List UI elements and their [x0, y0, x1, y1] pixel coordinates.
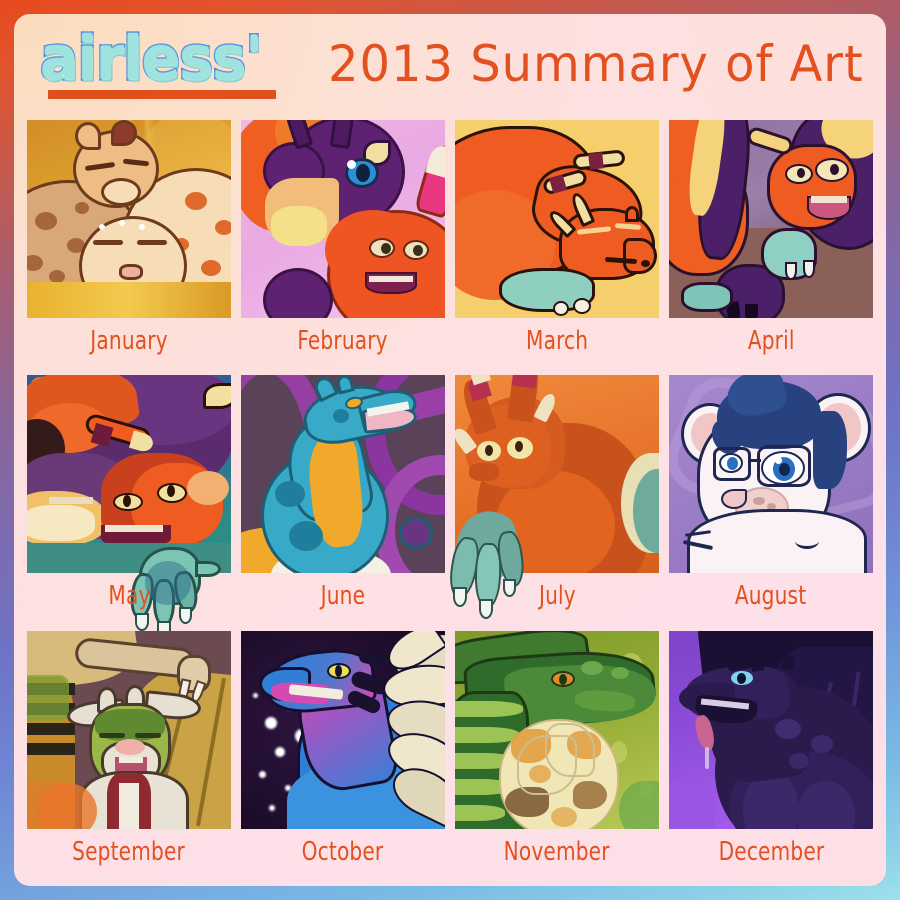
month-cell-january[interactable]: January [22, 116, 236, 371]
month-grid: January [14, 114, 886, 886]
month-cell-july[interactable]: July [450, 371, 664, 626]
artwork-april[interactable] [669, 120, 873, 318]
month-label: April [748, 327, 795, 355]
artwork-october[interactable] [241, 631, 445, 829]
month-label: January [90, 327, 167, 355]
artwork-march[interactable] [455, 120, 659, 318]
artwork-september[interactable] [27, 631, 231, 829]
month-label: July [539, 582, 576, 610]
artwork-february[interactable] [241, 120, 445, 318]
month-label: May [108, 582, 150, 610]
month-cell-may[interactable]: May [22, 371, 236, 626]
month-label: November [504, 838, 610, 866]
artwork-august[interactable] [669, 375, 873, 573]
artwork-june[interactable] [241, 375, 445, 573]
month-cell-march[interactable]: March [450, 116, 664, 371]
artwork-november[interactable] [455, 631, 659, 829]
artist-logo: airless' [40, 19, 302, 109]
month-cell-april[interactable]: April [664, 116, 878, 371]
month-cell-february[interactable]: February [236, 116, 450, 371]
header: airless' 2013 Summary of Art [14, 14, 886, 114]
artist-name: airless' [40, 28, 262, 89]
month-label: March [526, 327, 588, 355]
month-label: December [718, 838, 824, 866]
month-label: September [73, 838, 186, 866]
artwork-december[interactable] [669, 631, 873, 829]
artwork-may[interactable] [27, 375, 231, 573]
month-cell-september[interactable]: September [22, 627, 236, 882]
month-label: February [298, 327, 388, 355]
month-cell-june[interactable]: June [236, 371, 450, 626]
month-cell-october[interactable]: October [236, 627, 450, 882]
summary-card: airless' 2013 Summary of Art [14, 14, 886, 886]
artwork-july[interactable] [455, 375, 659, 573]
month-label: August [735, 582, 806, 610]
month-cell-november[interactable]: November [450, 627, 664, 882]
month-label: June [321, 582, 366, 610]
page-title: 2013 Summary of Art [328, 37, 864, 91]
month-label: October [302, 838, 384, 866]
artwork-january[interactable] [27, 120, 231, 318]
month-cell-december[interactable]: December [664, 627, 878, 882]
month-cell-august[interactable]: August [664, 371, 878, 626]
